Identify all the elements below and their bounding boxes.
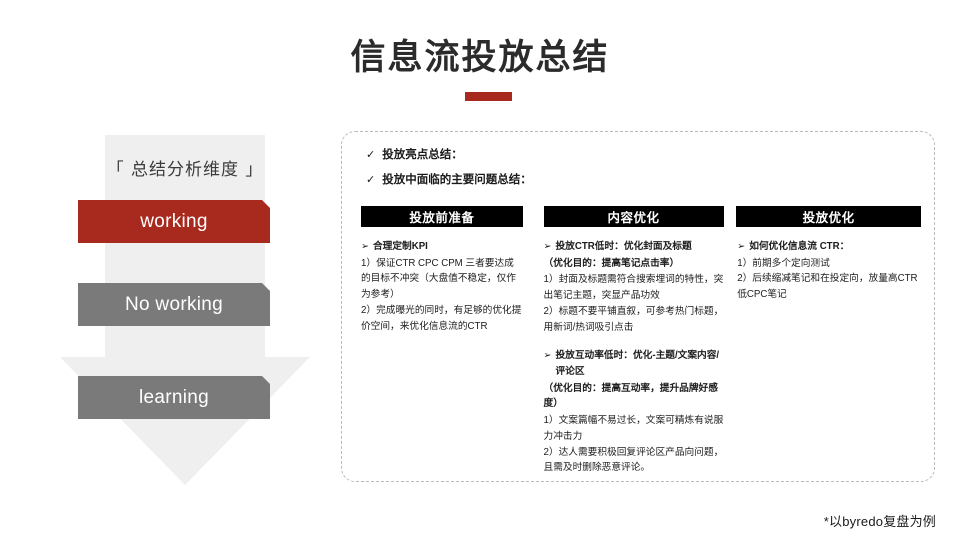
arrow-bullet-icon: ➢ bbox=[361, 239, 369, 254]
column-header: 投放优化 bbox=[736, 206, 921, 227]
title-underline-rule bbox=[465, 92, 512, 101]
column-gap bbox=[523, 206, 530, 466]
content-block-heading: ➢ 投放CTR低时：优化封面及标题 bbox=[544, 239, 724, 255]
content-block-subheading: （优化目的：提高互动率，提升品牌好感度） bbox=[544, 381, 724, 412]
column-pre-launch: 投放前准备 ➢ 合理定制KPI 1）保证CTR CPC CPM 三者要达成的目标… bbox=[361, 206, 523, 466]
content-line: 2）后续缩减笔记和在投定向，放量高CTR低CPC笔记 bbox=[737, 271, 921, 302]
content-block-subheading: （优化目的：提高笔记点击率） bbox=[544, 256, 724, 272]
content-line: 1）文案篇幅不易过长，文案可精炼有说服力冲击力 bbox=[544, 413, 724, 444]
content-block-heading: ➢ 如何优化信息流 CTR： bbox=[737, 239, 921, 255]
content-block-heading-label: 如何优化信息流 CTR： bbox=[749, 239, 849, 255]
funnel-diagram: 「 总结分析维度 」 working No working learning bbox=[60, 135, 310, 485]
check-list-item-label: 投放中面临的主要问题总结： bbox=[382, 174, 532, 188]
content-line: 1）封面及标题需符合搜索埋词的特性，突出笔记主题，突显产品功效 bbox=[544, 272, 724, 303]
funnel-item-label: learning bbox=[139, 387, 209, 409]
funnel-item-label: working bbox=[140, 211, 208, 233]
content-line: 2）完成曝光的同时，有足够的优化提价空间，来优化信息流的CTR bbox=[361, 303, 523, 334]
content-block-heading-label: 合理定制KPI bbox=[373, 239, 428, 255]
arrow-bullet-icon: ➢ bbox=[544, 348, 552, 363]
column-content-optimization: 内容优化 ➢ 投放CTR低时：优化封面及标题 （优化目的：提高笔记点击率） 1）… bbox=[544, 206, 724, 466]
slide-canvas: 信息流投放总结 「 总结分析维度 」 working No working le… bbox=[0, 0, 960, 540]
funnel-item-no-working[interactable]: No working bbox=[78, 283, 270, 326]
content-line: 1）保证CTR CPC CPM 三者要达成的目标不冲突（大盘值不稳定，仅作为参考… bbox=[361, 256, 523, 303]
content-block-heading-label: 投放CTR低时：优化封面及标题 bbox=[555, 239, 691, 255]
content-line: 2）标题不要平铺直叙，可参考热门标题，用新词/热词吸引点击 bbox=[544, 304, 724, 335]
check-list-item-label: 投放亮点总结： bbox=[382, 149, 463, 163]
check-icon: ✓ bbox=[366, 149, 375, 162]
column-body: ➢ 投放CTR低时：优化封面及标题 （优化目的：提高笔记点击率） 1）封面及标题… bbox=[544, 227, 724, 476]
content-block-heading-label: 投放互动率低时：优化-主题/文案内容/评论区 bbox=[555, 348, 723, 379]
arrow-bullet-icon: ➢ bbox=[544, 239, 552, 254]
content-block: ➢ 合理定制KPI 1）保证CTR CPC CPM 三者要达成的目标不冲突（大盘… bbox=[361, 239, 523, 334]
content-block: ➢ 投放CTR低时：优化封面及标题 （优化目的：提高笔记点击率） 1）封面及标题… bbox=[544, 239, 724, 335]
arrow-bullet-icon: ➢ bbox=[737, 239, 745, 254]
content-block: ➢ 投放互动率低时：优化-主题/文案内容/评论区 （优化目的：提高互动率，提升品… bbox=[544, 348, 724, 476]
content-block-heading: ➢ 投放互动率低时：优化-主题/文案内容/评论区 bbox=[544, 348, 724, 379]
column-body: ➢ 合理定制KPI 1）保证CTR CPC CPM 三者要达成的目标不冲突（大盘… bbox=[361, 227, 523, 334]
content-block-heading: ➢ 合理定制KPI bbox=[361, 239, 523, 255]
footnote: *以byredo复盘为例 bbox=[824, 511, 936, 530]
check-list: ✓ 投放亮点总结： ✓ 投放中面临的主要问题总结： bbox=[366, 149, 886, 199]
summary-card: ✓ 投放亮点总结： ✓ 投放中面临的主要问题总结： 投放前准备 ➢ 合理定制KP… bbox=[341, 131, 935, 482]
columns-container: 投放前准备 ➢ 合理定制KPI 1）保证CTR CPC CPM 三者要达成的目标… bbox=[361, 206, 921, 466]
check-list-item: ✓ 投放亮点总结： bbox=[366, 149, 886, 163]
column-header: 内容优化 bbox=[544, 206, 724, 227]
page-title: 信息流投放总结 bbox=[0, 38, 960, 78]
column-delivery-optimization: 投放优化 ➢ 如何优化信息流 CTR： 1）前期多个定向测试 2）后续缩减笔记和… bbox=[736, 206, 921, 466]
funnel-item-label: No working bbox=[125, 294, 223, 316]
column-gap bbox=[724, 206, 731, 466]
content-block: ➢ 如何优化信息流 CTR： 1）前期多个定向测试 2）后续缩减笔记和在投定向，… bbox=[737, 239, 921, 303]
check-icon: ✓ bbox=[366, 174, 375, 187]
column-header: 投放前准备 bbox=[361, 206, 523, 227]
funnel-caption: 「 总结分析维度 」 bbox=[60, 155, 310, 180]
check-list-item: ✓ 投放中面临的主要问题总结： bbox=[366, 174, 886, 188]
funnel-item-working[interactable]: working bbox=[78, 200, 270, 243]
column-body: ➢ 如何优化信息流 CTR： 1）前期多个定向测试 2）后续缩减笔记和在投定向，… bbox=[736, 227, 921, 303]
content-line: 2）达人需要积极回复评论区产品向问题，且需及时删除恶意评论。 bbox=[544, 445, 724, 476]
content-line: 1）前期多个定向测试 bbox=[737, 256, 921, 272]
funnel-item-learning[interactable]: learning bbox=[78, 376, 270, 419]
